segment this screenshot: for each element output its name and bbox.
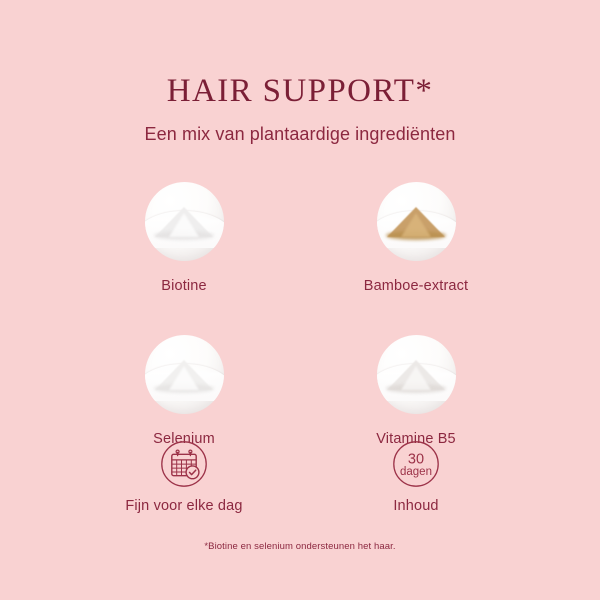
white-powder-heap-icon (145, 182, 224, 261)
feature-item-daily-use: Fijn voor elke dag (105, 440, 263, 515)
ingredient-row: Selenium Vitamine B5 (0, 335, 600, 448)
powder-heap-highlight (401, 366, 431, 390)
feature-label: Inhoud (393, 497, 438, 515)
footnote: *Biotine en selenium ondersteunen het ha… (0, 540, 600, 553)
page-title: HAIR SUPPORT* (0, 72, 600, 110)
powder-heap-highlight (169, 366, 199, 390)
page-subtitle: Een mix van plantaardige ingrediënten (0, 123, 600, 145)
feature-item-contents: 30 dagen Inhoud (337, 440, 495, 515)
ingredient-label: Biotine (161, 277, 206, 295)
badge-number: 30 (408, 451, 424, 467)
badge-unit: dagen (400, 466, 432, 478)
feature-row: Fijn voor elke dag 30 dagen Inhoud (0, 440, 600, 515)
feature-label: Fijn voor elke dag (125, 497, 242, 515)
header: HAIR SUPPORT* Een mix van plantaardige i… (0, 72, 600, 145)
ingredient-item-selenium: Selenium (105, 335, 263, 448)
ingredient-item-bamboe-extract: Bamboe-extract (337, 182, 495, 295)
ingredient-grid: Biotine Bamboe-extract Selenium (0, 182, 600, 448)
ingredient-item-biotine: Biotine (105, 182, 263, 295)
ingredient-row: Biotine Bamboe-extract (0, 182, 600, 295)
powder-heap-highlight (169, 213, 199, 237)
ingredient-label: Bamboe-extract (364, 277, 468, 295)
calendar-check-icon (160, 440, 208, 488)
tan-powder-heap-icon (377, 182, 456, 261)
white-powder-heap-icon (145, 335, 224, 414)
product-infographic: HAIR SUPPORT* Een mix van plantaardige i… (0, 0, 600, 600)
thirty-days-badge-icon: 30 dagen (392, 440, 440, 488)
white-powder-heap-icon (377, 335, 456, 414)
powder-heap-highlight (401, 213, 431, 237)
ingredient-item-vitamine-b5: Vitamine B5 (337, 335, 495, 448)
